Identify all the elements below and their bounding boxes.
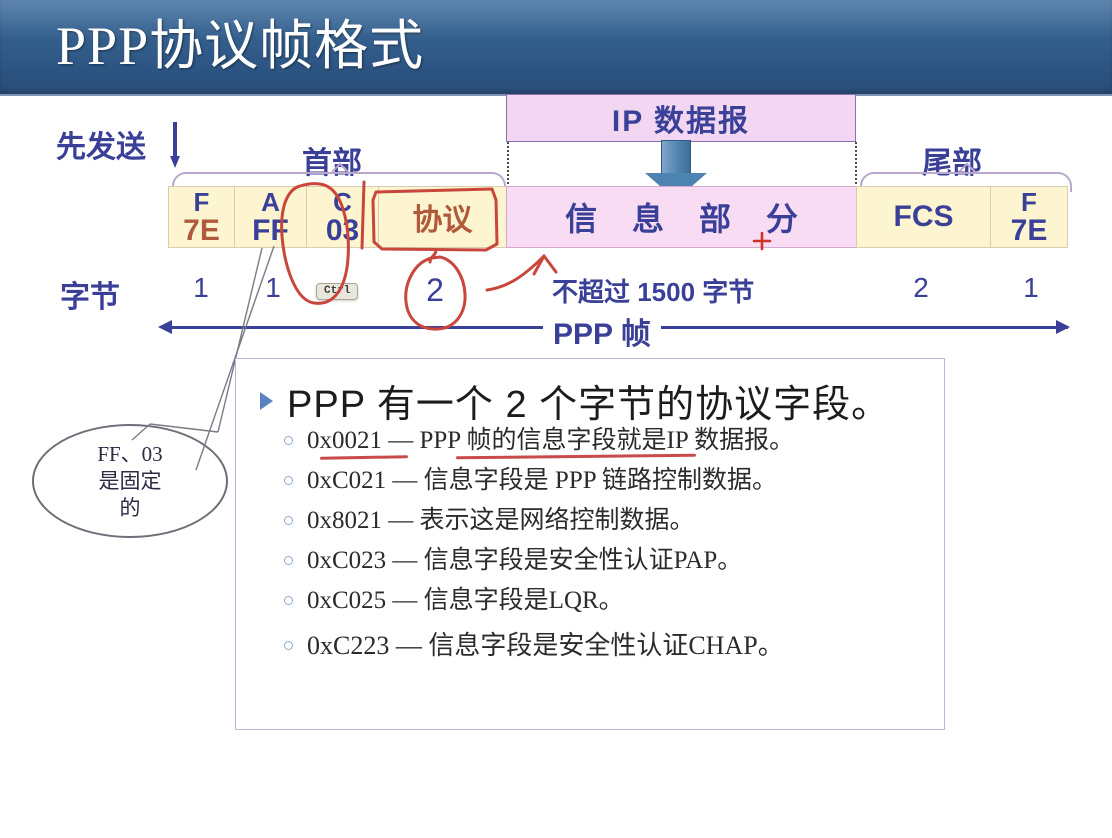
send-first-label: 先发送 [56, 122, 146, 166]
ip-datagram-guide-right [855, 142, 857, 188]
bytes-protocol: 2 [412, 272, 458, 309]
field-protocol-value: 协议 [379, 195, 506, 239]
list-item: 0xC025 — 信息字段是LQR。 [284, 585, 934, 616]
bytes-flag-end: 1 [1008, 272, 1054, 304]
bytes-label: 字节 [60, 272, 120, 316]
field-protocol: 协议 [378, 186, 506, 248]
callout-oval: FF、03 是固定 的 [32, 424, 228, 538]
page-title: PPP协议帧格式 [56, 14, 424, 78]
list-item-text: 0x8021 — 表示这是网络控制数据。 [307, 505, 695, 536]
circle-bullet-icon [284, 596, 293, 605]
field-flag-end: F 7E [990, 186, 1068, 248]
red-underline-code [320, 455, 408, 460]
field-information-value: 信 息 部 分 [507, 194, 856, 240]
field-control-value: 03 [307, 216, 378, 246]
bytes-flag-start: 1 [178, 272, 224, 304]
circle-bullet-icon [284, 436, 293, 445]
field-information: 信 息 部 分 [506, 186, 856, 248]
mtu-label: 不超过 1500 字节 [552, 272, 754, 309]
list-item-text: 0xC025 — 信息字段是LQR。 [307, 585, 624, 616]
field-fcs: FCS [856, 186, 990, 248]
circle-bullet-icon [284, 476, 293, 485]
list-item-text: 0xC223 — 信息字段是安全性认证CHAP。 [307, 630, 784, 661]
circle-bullet-icon [284, 641, 293, 650]
circle-bullet-icon [284, 556, 293, 565]
field-flag-end-value: 7E [991, 216, 1067, 246]
main-bullet-row: PPP 有一个 2 个字节的协议字段。 [260, 373, 890, 428]
list-item: 0xC021 — 信息字段是 PPP 链路控制数据。 [284, 465, 934, 496]
callout-line-2: 是固定 [97, 468, 162, 495]
ppp-frame-span-arrow-left [158, 320, 172, 334]
bytes-fcs: 2 [898, 272, 944, 304]
field-flag-start-top: F [169, 189, 234, 215]
ppp-frame-row: F 7E A FF C 03 协议 信 息 部 分 [168, 186, 1068, 248]
list-item: 0xC023 — 信息字段是安全性认证PAP。 [284, 545, 934, 576]
list-item-text: 0x0021 — PPP 帧的信息字段就是IP 数据报。 [307, 425, 794, 456]
field-address: A FF [234, 186, 306, 248]
field-flag-end-top: F [991, 189, 1067, 215]
callout-line-1: FF、03 [97, 441, 162, 468]
slide-canvas: PPP协议帧格式 先发送 首部 尾部 IP 数据报 F 7E A FF C [0, 0, 1112, 838]
field-control: C 03 [306, 186, 378, 248]
main-bullet-text: PPP 有一个 2 个字节的协议字段。 [287, 373, 890, 428]
ppp-frame-span-arrow-right [1056, 320, 1070, 334]
field-flag-start: F 7E [168, 186, 234, 248]
list-item-text: 0xC023 — 信息字段是安全性认证PAP。 [307, 545, 742, 576]
list-item: 0x8021 — 表示这是网络控制数据。 [284, 505, 934, 536]
field-address-top: A [235, 189, 306, 215]
list-item-text: 0xC021 — 信息字段是 PPP 链路控制数据。 [307, 465, 777, 496]
content-textbox: PPP 有一个 2 个字节的协议字段。 0x0021 — PPP 帧的信息字段就… [235, 358, 945, 730]
triangle-bullet-icon [260, 392, 273, 410]
circle-bullet-icon [284, 516, 293, 525]
title-bar: PPP协议帧格式 [0, 0, 1112, 96]
field-address-value: FF [235, 216, 306, 246]
field-control-top: C [307, 189, 378, 215]
field-fcs-value: FCS [857, 200, 990, 234]
ip-datagram-guide-left [507, 142, 509, 188]
ppp-frame-label: PPP 帧 [543, 309, 661, 353]
field-flag-start-value: 7E [169, 216, 234, 246]
list-item: 0xC223 — 信息字段是安全性认证CHAP。 [284, 630, 934, 661]
list-item: 0x0021 — PPP 帧的信息字段就是IP 数据报。 [284, 425, 934, 456]
callout-line-3: 的 [97, 495, 162, 522]
protocol-code-list: 0x0021 — PPP 帧的信息字段就是IP 数据报。 0xC021 — 信息… [284, 425, 934, 670]
callout-text: FF、03 是固定 的 [97, 441, 162, 522]
bytes-address: 1 [250, 272, 296, 304]
ctrl-tooltip-badge: Ctrl [316, 283, 358, 300]
ip-datagram-box: IP 数据报 [506, 94, 856, 142]
